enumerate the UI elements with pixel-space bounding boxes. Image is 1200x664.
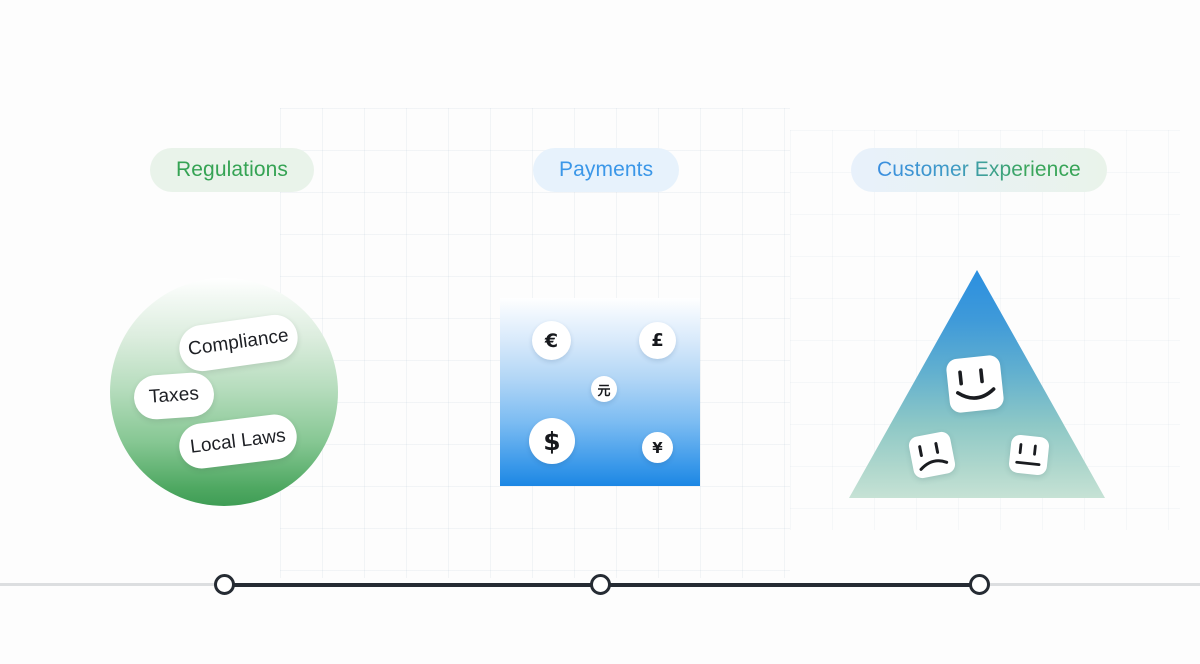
tag-taxes-label: Taxes: [148, 383, 200, 408]
pound-symbol-icon: £: [651, 330, 664, 351]
yuan-symbol-icon: 元: [597, 380, 610, 399]
tag-local-laws-label: Local Laws: [189, 425, 287, 459]
timeline-node-customer-experience[interactable]: [969, 574, 990, 595]
currency-chip-dollar[interactable]: $: [529, 418, 575, 464]
tag-taxes[interactable]: Taxes: [133, 371, 216, 420]
column-label-payments[interactable]: Payments: [533, 148, 679, 192]
currency-chip-yen[interactable]: ¥: [642, 432, 673, 463]
timeline-track-left: [0, 583, 225, 586]
yen-symbol-icon: ¥: [652, 439, 662, 457]
sad-face-icon[interactable]: [907, 430, 956, 479]
column-label-payments-text: Payments: [559, 158, 653, 182]
column-label-regulations-text: Regulations: [176, 158, 288, 182]
currency-chip-yuan[interactable]: 元: [591, 376, 617, 402]
currency-chip-euro[interactable]: €: [532, 321, 571, 360]
timeline-node-regulations[interactable]: [214, 574, 235, 595]
neutral-face-icon[interactable]: [1008, 434, 1050, 476]
currency-chip-pound[interactable]: £: [639, 322, 676, 359]
column-label-customer-experience[interactable]: Customer Experience: [851, 148, 1107, 192]
timeline-track-right: [975, 583, 1200, 586]
timeline-node-payments[interactable]: [590, 574, 611, 595]
happy-face-icon[interactable]: [945, 354, 1004, 413]
column-label-regulations[interactable]: Regulations: [150, 148, 314, 192]
infographic-canvas: Regulations Payments Customer Experience…: [0, 0, 1200, 664]
euro-symbol-icon: €: [545, 330, 558, 352]
tag-compliance-label: Compliance: [187, 325, 290, 361]
dollar-symbol-icon: $: [543, 427, 560, 456]
column-label-customer-experience-text: Customer Experience: [877, 158, 1081, 182]
progress-timeline[interactable]: [0, 560, 1200, 608]
